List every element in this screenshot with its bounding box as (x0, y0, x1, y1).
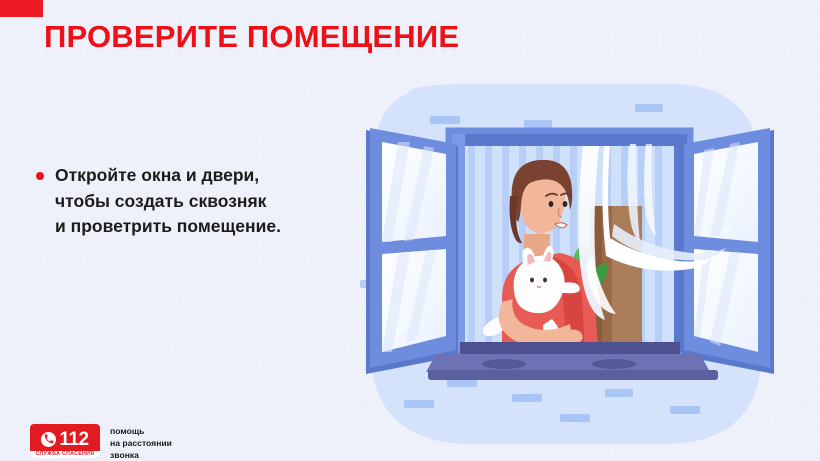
body-text: Откройте окна и двери, чтобы создать скв… (55, 163, 281, 240)
body-copy-block: Откройте окна и двери, чтобы создать скв… (36, 163, 356, 240)
bullet-list-item: Откройте окна и двери, чтобы создать скв… (36, 163, 356, 240)
page-title: ПРОВЕРИТЕ ПОМЕЩЕНИЕ (44, 20, 564, 54)
bullet-dot-icon (36, 172, 44, 180)
open-window-ventilation-illustration (352, 84, 792, 446)
right-open-shutter (682, 128, 774, 374)
logo-badge-subtitle: СЛУЖБА СПАСЕНИЯ (30, 451, 100, 458)
emergency-service-logo: 112 СЛУЖБА СПАСЕНИЯ помощь на расстоянии… (30, 424, 172, 461)
window-sill (426, 342, 718, 380)
red-accent-tab (0, 0, 43, 17)
logo-badge-content: 112 (41, 430, 88, 449)
left-open-shutter (366, 128, 458, 374)
slide-canvas: ПРОВЕРИТЕ ПОМЕЩЕНИЕ Откройте окна и двер… (0, 0, 820, 461)
logo-number: 112 (59, 430, 88, 449)
logo-badge: 112 СЛУЖБА СПАСЕНИЯ (30, 424, 100, 458)
footer-tagline: помощь на расстоянии звонка (110, 425, 172, 461)
phone-handset-icon (41, 432, 56, 447)
